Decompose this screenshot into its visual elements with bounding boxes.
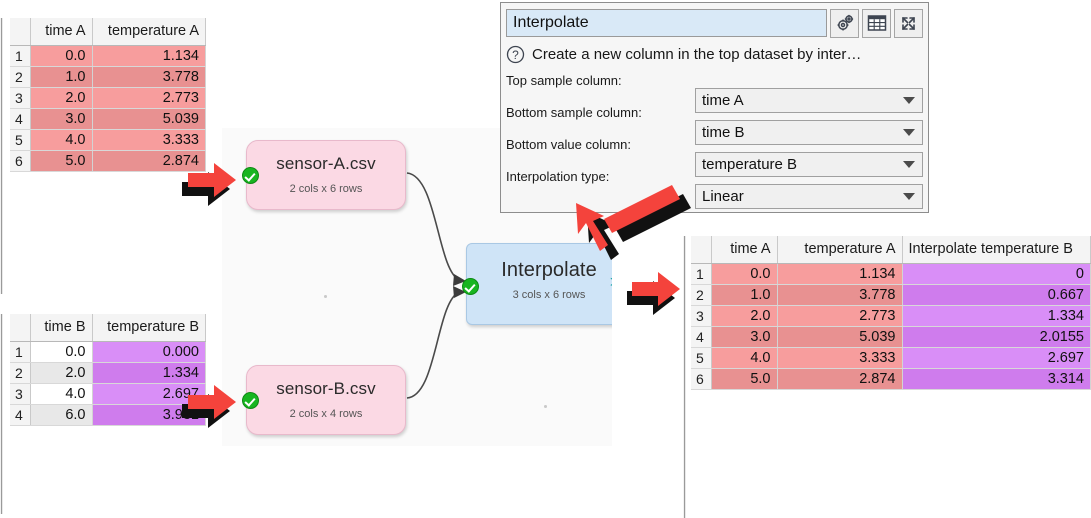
table-row[interactable]: 34.02.697 — [10, 384, 206, 405]
table-row[interactable]: 21.03.7780.667 — [691, 285, 1091, 306]
table-row[interactable]: 32.02.773 — [10, 88, 206, 109]
table-row[interactable]: 10.00.000 — [10, 342, 206, 363]
table-cell[interactable]: 2.773 — [777, 306, 902, 327]
chevron-down-icon — [903, 129, 915, 136]
node-sensor-a[interactable]: sensor-A.csv 2 cols x 6 rows — [246, 140, 406, 210]
table-cell[interactable]: 0 — [902, 264, 1091, 285]
table-cell[interactable]: 2.874 — [777, 369, 902, 390]
node-sensor-b[interactable]: sensor-B.csv 2 cols x 4 rows — [246, 365, 406, 435]
table-cell[interactable]: 5.0 — [711, 369, 777, 390]
table-cell[interactable]: 3.778 — [777, 285, 902, 306]
annotation-arrow-to-sensor-a — [186, 163, 258, 215]
interpolate-properties-dialog[interactable]: Interpolate — [500, 2, 929, 213]
column-header-temperature-b[interactable]: temperature B — [92, 314, 206, 342]
table-cell[interactable]: 2.773 — [92, 88, 206, 109]
table-cell[interactable]: 3.314 — [902, 369, 1091, 390]
annotation-arrow-to-sensor-b — [186, 385, 258, 437]
table-row[interactable]: 21.03.778 — [10, 67, 206, 88]
result-table-panel[interactable]: time A temperature A Interpolate tempera… — [683, 236, 1091, 518]
row-header[interactable]: 4 — [691, 327, 711, 348]
column-header-temperature-a[interactable]: temperature A — [777, 236, 902, 264]
sensor-a-grid[interactable]: time A temperature A 10.01.13421.03.7783… — [10, 18, 206, 172]
gears-icon — [835, 13, 855, 33]
table-row[interactable]: 54.03.3332.697 — [691, 348, 1091, 369]
row-header[interactable]: 4 — [10, 405, 30, 426]
column-header-time-a[interactable]: time A — [30, 18, 92, 46]
expand-icon — [899, 14, 918, 33]
row-header[interactable]: 1 — [10, 342, 30, 363]
table-header-row: time A temperature A — [10, 18, 206, 46]
table-cell[interactable]: 3.333 — [92, 130, 206, 151]
table-header-row: time B temperature B — [10, 314, 206, 342]
field-bottom-sample-column: Bottom sample column: time B — [506, 105, 923, 130]
interpolation-type-select[interactable]: Linear — [695, 184, 923, 209]
table-cell[interactable]: 0.000 — [92, 342, 206, 363]
field-top-sample-column: Top sample column: time A — [506, 73, 923, 98]
row-header[interactable]: 3 — [10, 88, 30, 109]
table-cell[interactable]: 0.667 — [902, 285, 1091, 306]
chevron-down-icon — [903, 193, 915, 200]
table-cell[interactable]: 1.334 — [92, 363, 206, 384]
table-cell[interactable]: 1.134 — [777, 264, 902, 285]
chevron-down-icon — [903, 97, 915, 104]
row-header[interactable]: 1 — [10, 46, 30, 67]
column-header-time-a[interactable]: time A — [711, 236, 777, 264]
table-cell[interactable]: 2.0 — [30, 88, 92, 109]
field-label: Bottom value column: — [506, 137, 631, 152]
annotation-arrow-to-result-table — [630, 272, 700, 322]
node-subtitle: 3 cols x 6 rows — [467, 289, 612, 301]
annotation-arrow-to-interpolate-node — [576, 183, 716, 278]
table-cell[interactable]: 2.0155 — [902, 327, 1091, 348]
table-cell[interactable]: 6.0 — [30, 405, 92, 426]
row-header[interactable]: 2 — [10, 363, 30, 384]
table-row[interactable]: 54.03.333 — [10, 130, 206, 151]
table-icon-button[interactable] — [862, 9, 891, 38]
row-header[interactable]: 6 — [10, 151, 30, 172]
column-header-time-b[interactable]: time B — [30, 314, 92, 342]
dialog-content: Interpolate — [506, 8, 923, 194]
table-row[interactable]: 65.02.8743.314 — [691, 369, 1091, 390]
table-row[interactable]: 32.02.7731.334 — [691, 306, 1091, 327]
row-header[interactable]: 3 — [10, 384, 30, 405]
table-row[interactable]: 10.01.134 — [10, 46, 206, 67]
table-cell[interactable]: 2.0 — [711, 306, 777, 327]
table-header-row: time A temperature A Interpolate tempera… — [691, 236, 1091, 264]
field-bottom-value-column: Bottom value column: temperature B — [506, 137, 923, 162]
table-cell[interactable]: 4.0 — [711, 348, 777, 369]
panel-left-edge — [0, 18, 3, 294]
table-cell[interactable]: 3.778 — [92, 67, 206, 88]
dialog-title-row: Interpolate — [506, 8, 923, 38]
table-cell[interactable]: 1.334 — [902, 306, 1091, 327]
row-header[interactable]: 4 — [10, 109, 30, 130]
table-cell[interactable]: 5.0 — [30, 151, 92, 172]
table-row[interactable]: 43.05.039 — [10, 109, 206, 130]
table-cell[interactable]: 3.0 — [30, 109, 92, 130]
sensor-b-table-panel[interactable]: time B temperature B 10.00.00022.01.3343… — [0, 314, 206, 514]
node-title: sensor-A.csv — [247, 154, 405, 174]
table-icon — [867, 14, 887, 32]
row-header[interactable]: 5 — [10, 130, 30, 151]
table-cell[interactable]: 5.039 — [92, 109, 206, 130]
node-subtitle: 2 cols x 6 rows — [247, 183, 405, 195]
row-header[interactable]: 6 — [691, 369, 711, 390]
status-ok-icon-interpolate — [462, 278, 479, 295]
question-circle-icon[interactable]: ? — [506, 45, 525, 64]
table-cell[interactable]: 4.0 — [30, 384, 92, 405]
panel-left-edge — [0, 314, 3, 514]
table-row[interactable]: 43.05.0392.0155 — [691, 327, 1091, 348]
table-row[interactable]: 65.02.874 — [10, 151, 206, 172]
svg-text:?: ? — [512, 48, 519, 62]
table-cell[interactable]: 2.0 — [30, 363, 92, 384]
corner-header — [10, 314, 30, 342]
node-title: sensor-B.csv — [247, 379, 405, 399]
table-cell[interactable]: 3.0 — [711, 327, 777, 348]
field-label: Bottom sample column: — [506, 105, 642, 120]
table-row[interactable]: 22.01.334 — [10, 363, 206, 384]
table-cell[interactable]: 4.0 — [30, 130, 92, 151]
corner-header — [10, 18, 30, 46]
table-row[interactable]: 46.03.931 — [10, 405, 206, 426]
result-grid[interactable]: time A temperature A Interpolate tempera… — [691, 236, 1091, 390]
field-label: Top sample column: — [506, 73, 622, 88]
table-cell[interactable]: 1.134 — [92, 46, 206, 67]
column-header-interpolate-temperature-b[interactable]: Interpolate temperature B — [902, 236, 1091, 264]
sensor-a-table-panel[interactable]: time A temperature A 10.01.13421.03.7783… — [0, 18, 206, 294]
column-header-temperature-a[interactable]: temperature A — [92, 18, 206, 46]
gears-icon-button[interactable] — [830, 9, 859, 38]
field-label: Interpolation type: — [506, 169, 609, 184]
operation-name-input[interactable]: Interpolate — [506, 9, 827, 37]
table-cell[interactable]: 0.0 — [30, 342, 92, 363]
dialog-description: Create a new column in the top dataset b… — [532, 46, 861, 63]
expand-icon-button[interactable] — [894, 9, 923, 38]
table-cell[interactable]: 1.0 — [30, 67, 92, 88]
table-cell[interactable]: 5.039 — [777, 327, 902, 348]
table-row[interactable]: 10.01.1340 — [691, 264, 1091, 285]
row-header[interactable]: 5 — [691, 348, 711, 369]
chevron-down-icon — [903, 161, 915, 168]
table-cell[interactable]: 3.333 — [777, 348, 902, 369]
table-cell[interactable]: 2.697 — [902, 348, 1091, 369]
table-cell[interactable]: 0.0 — [30, 46, 92, 67]
table-cell[interactable]: 0.0 — [711, 264, 777, 285]
row-header[interactable]: 2 — [10, 67, 30, 88]
table-cell[interactable]: 1.0 — [711, 285, 777, 306]
dialog-description-row: ? Create a new column in the top dataset… — [506, 42, 923, 66]
sensor-b-grid[interactable]: time B temperature B 10.00.00022.01.3343… — [10, 314, 206, 426]
node-subtitle: 2 cols x 4 rows — [247, 408, 405, 420]
